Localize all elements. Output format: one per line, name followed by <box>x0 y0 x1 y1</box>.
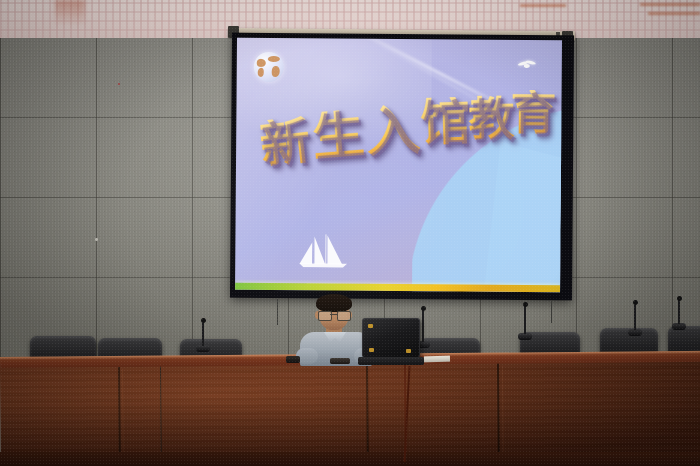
desk-panel-edge <box>122 369 124 463</box>
sailboat-icon <box>297 234 349 268</box>
microphone-neck <box>634 302 636 330</box>
eyeglass-bridge <box>330 314 337 315</box>
sailboat-sail <box>299 242 312 264</box>
microphone-base <box>518 333 532 340</box>
globe-icon <box>254 52 284 82</box>
microphone-head <box>201 318 206 323</box>
screen-cord <box>551 301 552 323</box>
microphone <box>196 318 212 352</box>
stage-riser <box>0 452 700 466</box>
laptop-sticker <box>406 349 411 353</box>
presenter-hair <box>316 294 352 312</box>
desk-panel-seam <box>118 367 121 465</box>
wall-stripe <box>520 4 566 7</box>
sailboat-sail <box>314 236 325 264</box>
microphone-base <box>672 323 686 330</box>
desk-object <box>286 356 300 363</box>
desk-panel-seam <box>366 365 369 463</box>
hanging-cable <box>160 367 162 465</box>
slide-bottom-strip <box>235 283 560 293</box>
sailboat-mast <box>325 234 326 264</box>
desk-object <box>330 358 350 364</box>
title-glyph: 教 <box>468 95 514 141</box>
microphone <box>672 296 688 330</box>
microphone-neck <box>524 304 526 334</box>
title-glyph: 生 <box>310 109 366 165</box>
eyeglasses-icon <box>318 311 350 319</box>
microphone-head <box>523 302 528 307</box>
title-glyph: 新 <box>257 115 312 170</box>
microphone-head <box>633 300 638 305</box>
title-glyph: 馆 <box>420 97 471 148</box>
wall-stripe <box>640 3 700 6</box>
title-glyph: 育 <box>510 90 556 136</box>
wall-stripe <box>648 12 700 15</box>
microphone-head <box>421 306 426 311</box>
desk-panel-edge <box>502 366 504 460</box>
laptop-sticker <box>369 348 374 352</box>
microphone-neck <box>678 298 680 324</box>
laptop-base <box>358 357 424 365</box>
slide-title: 新 生 入 馆 教 育 <box>254 90 547 184</box>
projected-slide: 新 生 入 馆 教 育 <box>235 38 562 293</box>
microphone <box>628 300 644 336</box>
desk-front-panel <box>0 362 700 466</box>
photograph-scene: 新 生 入 馆 教 育 <box>0 0 700 466</box>
microphone <box>518 302 534 340</box>
laptop-lid <box>362 318 420 358</box>
microphone-neck <box>202 320 204 346</box>
eyeglass-lens <box>337 311 351 321</box>
laptop[interactable] <box>358 318 420 366</box>
microphone-neck <box>422 308 424 342</box>
document-stack <box>424 356 450 363</box>
sailboat-sail <box>327 235 342 264</box>
microphone-head <box>677 296 682 301</box>
desk-panel-seam <box>497 364 500 462</box>
title-glyph: 入 <box>365 104 421 160</box>
laptop-sticker <box>368 324 373 328</box>
wall-fixture-dot <box>95 238 98 241</box>
microphone-base <box>196 345 210 352</box>
projection-screen: 新 生 入 馆 教 育 <box>230 33 574 301</box>
screen-cord <box>277 299 278 325</box>
bird-icon <box>518 59 536 69</box>
wall-stain <box>55 0 85 26</box>
eyeglass-lens <box>318 311 332 321</box>
sailboat-hull <box>297 263 349 267</box>
microphone-base <box>628 329 642 336</box>
wall-mark <box>118 83 120 85</box>
